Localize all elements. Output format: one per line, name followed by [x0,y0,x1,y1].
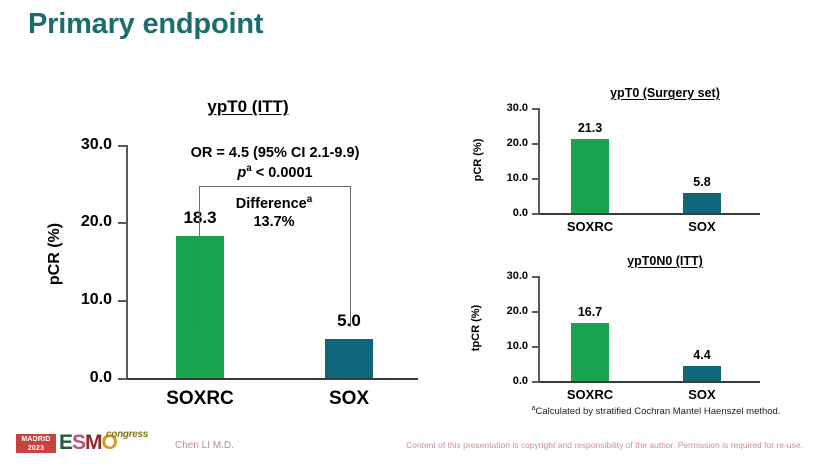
chart-main-y-axis [126,145,128,379]
chart-ypt0n0-category-soxrc: SOXRC [545,387,635,402]
p-marker: a [246,163,251,174]
chart-main-difference-annotation: Differencea 13.7% [212,194,336,231]
chart-main-p-annotation: pa < 0.0001 [150,163,400,183]
chart-ypt0n0-value-sox: 4.4 [667,348,737,362]
chart-ypt0n0-ytick-20 [532,311,539,313]
chart-ypt0n0-category-sox: SOX [657,387,747,402]
chart-main-ypt0-itt: ypT0 (ITT) 30.0 20.0 10.0 0.0 pCR (%) 18… [0,0,440,420]
chart-ypt0n0-y-axis-label: tpCR (%) [470,283,482,373]
chart-ypt0n0-y-axis [538,276,540,381]
esmo-letter-m: M [85,431,102,454]
chart-main-category-sox: SOX [299,388,399,410]
chart-ypt0n0-itt: ypT0N0 (ITT) 30.0 20.0 10.0 0.0 tpCR (%)… [440,160,832,420]
chart-main-ytick-label-10: 10.0 [56,291,112,309]
madrid-2023-badge: MADRID 2023 [16,434,56,453]
chart-main-ytick-30 [118,145,127,147]
chart-main-y-axis-label: pCR (%) [46,194,64,314]
chart-main-ytick-label-20: 20.0 [56,213,112,231]
chart-main-bar-sox [325,339,373,378]
chart-main-ytick-10 [118,300,127,302]
chart-surgery-set-title: ypT0 (Surgery set) [565,86,765,100]
congress-wordmark: congress [106,429,148,440]
esmo-letter-e: E [59,431,72,454]
chart-ypt0n0-ytick-0 [532,381,539,383]
chart-ypt0n0-bar-sox [683,366,721,381]
slide-root: Primary endpoint ypT0 (ITT) 30.0 20.0 10… [0,0,832,468]
footnote-text: Calculated by stratified Cochran Mantel … [535,406,780,417]
presenter-credit: Chen LI M.D. [175,440,234,451]
chart-ypt0n0-ytick-10 [532,346,539,348]
chart-ypt0n0-ytick-label-0: 0.0 [484,375,528,387]
chart-ypt0n0-title: ypT0N0 (ITT) [565,254,765,268]
chart-surgery-set-ytick-20 [532,143,539,145]
chart-ypt0n0-bar-soxrc [571,323,609,381]
chart-main-ytick-0 [118,378,127,380]
chart-surgery-set-ytick-label-20: 20.0 [484,137,528,149]
esmo-letter-s: S [72,431,85,454]
chart-main-ytick-label-30: 30.0 [56,136,112,154]
difference-value: 13.7% [212,214,336,232]
chart-surgery-set-ytick-label-30: 30.0 [484,102,528,114]
footnote: aCalculated by stratified Cochran Mantel… [480,404,832,417]
difference-marker: a [307,194,312,205]
chart-main-or-annotation: OR = 4.5 (95% CI 2.1-9.9) [150,145,400,163]
chart-surgery-set-ytick-30 [532,108,539,110]
chart-main-ytick-label-0: 0.0 [56,369,112,387]
chart-ypt0n0-ytick-label-30: 30.0 [484,270,528,282]
chart-main-category-soxrc: SOXRC [150,388,250,410]
madrid-badge-line2: 2023 [16,444,56,453]
or-text: OR = 4.5 (95% CI 2.1-9.9) [191,145,360,161]
p-value: < 0.0001 [256,165,313,181]
chart-ypt0n0-ytick-30 [532,276,539,278]
p-symbol: p [237,165,246,181]
copyright-notice: Content of this presentation is copyrigh… [406,440,803,450]
difference-label: Difference [236,196,307,212]
madrid-badge-line1: MADRID [16,435,56,444]
chart-ypt0n0-ytick-label-10: 10.0 [484,340,528,352]
chart-main-title: ypT0 (ITT) [178,97,318,117]
chart-surgery-set-value-soxrc: 21.3 [555,121,625,135]
chart-main-x-axis [126,378,418,380]
chart-ypt0n0-x-axis [538,381,760,383]
chart-main-ytick-20 [118,222,127,224]
chart-ypt0n0-ytick-label-20: 20.0 [484,305,528,317]
chart-ypt0n0-value-soxrc: 16.7 [555,305,625,319]
